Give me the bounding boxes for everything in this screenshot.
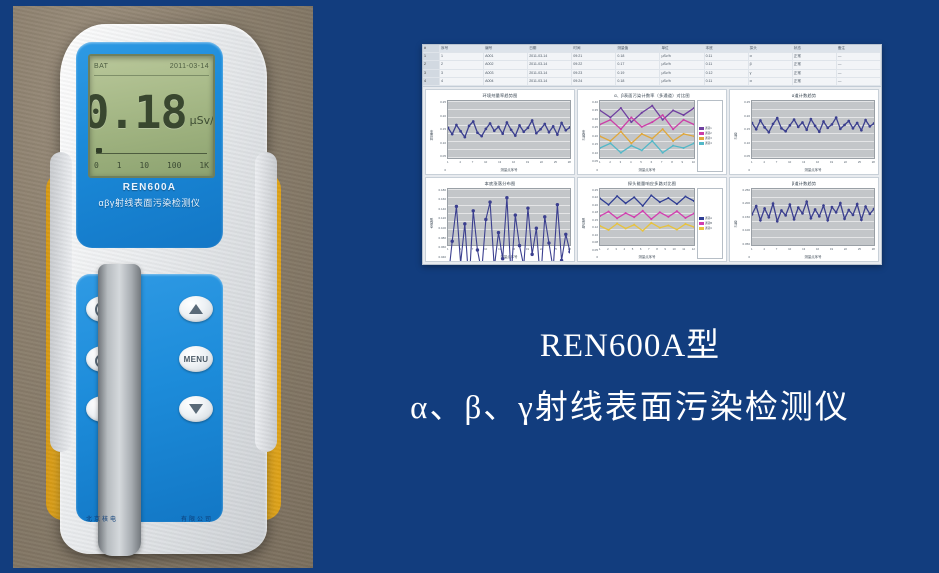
table-row-index: 1 (423, 53, 440, 60)
chart-marker (609, 140, 611, 142)
chart-marker (620, 152, 622, 154)
chart-marker (472, 209, 475, 212)
chart-marker (822, 120, 825, 123)
table-header-cell: 探头 (749, 45, 793, 52)
down-button[interactable] (179, 396, 213, 422)
chart-marker (868, 212, 871, 215)
software-screenshot-panel: #序号编号日期时间测量值单位本底探头状态备注11A0012011-03-1409… (422, 44, 882, 265)
chart-y-tick: 0.15 (587, 142, 598, 146)
chart-marker (642, 209, 644, 211)
chart-marker (814, 125, 817, 128)
chart-marker (530, 252, 533, 255)
chart-marker (856, 122, 859, 125)
table-cell: 2011-03-14 (528, 78, 572, 85)
chart-legend-label: 通道A (705, 216, 712, 220)
chart-y-axis-label: 计数 (732, 188, 739, 260)
chart-series-svg (448, 189, 570, 263)
chart-panel: β道计数趋势计数0.2500.2000.1500.1000.0500147101… (729, 177, 879, 263)
chart-marker (650, 221, 652, 223)
chart-line (600, 106, 694, 122)
chart-legend-swatch (699, 142, 704, 145)
chart-panel: 探头能量响应多路对比图响应值0.250.220.200.180.150.120.… (577, 177, 727, 263)
chart-plot-area (599, 100, 695, 159)
chart-marker (763, 126, 766, 129)
chart-marker (672, 140, 674, 142)
chart-marker (547, 241, 550, 244)
chart-y-tick: 0.080 (435, 236, 446, 240)
chart-marker (860, 129, 863, 132)
chart-marker (856, 202, 859, 205)
lcd-divider (94, 75, 209, 76)
table-header-cell: 单位 (660, 45, 704, 52)
chart-marker (633, 223, 635, 225)
chart-title: α、β表面污染计数率（多通道）对比图 (578, 90, 726, 100)
chart-marker (651, 105, 653, 107)
chart-y-axis-label: 剂量率 (428, 100, 435, 172)
slide-root: BAT 2011-03-14 0.18 μSv/h 0 1 10 (0, 0, 939, 573)
chart-marker (642, 229, 644, 231)
chart-marker (672, 145, 674, 147)
table-header-cell: 测量值 (616, 45, 660, 52)
chart-panel: α、β表面污染计数率（多通道）对比图计数率0.400.350.300.250.2… (577, 89, 727, 175)
chart-body: 计数率0.400.350.300.250.200.150.100.0501234… (578, 100, 726, 174)
lcd-tick: 1K (199, 161, 209, 170)
chart-marker (759, 119, 762, 122)
chart-marker (789, 203, 792, 206)
table-cell: μSv/h (660, 78, 704, 85)
table-cell: 0.19 (616, 70, 660, 77)
up-button[interactable] (179, 296, 213, 322)
triangle-down-icon (189, 404, 203, 414)
table-cell: 4 (440, 78, 484, 85)
chart-y-tick: 0.25 (739, 100, 750, 104)
data-table: #序号编号日期时间测量值单位本底探头状态备注11A0012011-03-1409… (423, 45, 881, 87)
chart-marker (459, 130, 462, 133)
chart-y-ticks: 0.1800.1600.1400.1200.1000.0800.0600.040 (435, 188, 447, 260)
table-cell: 0.17 (616, 61, 660, 68)
chart-marker (564, 232, 567, 235)
chart-marker (506, 121, 509, 124)
chart-panel: 环境剂量率趋势图剂量率0.250.200.150.100.05014710131… (425, 89, 575, 175)
chart-y-ticks: 0.250.220.200.180.150.120.100.080.050 (587, 188, 599, 260)
chart-body: 剂量率0.250.200.150.100.0501471013161922252… (426, 100, 574, 174)
chart-marker (556, 133, 559, 136)
chart-y-tick: 0.20 (587, 203, 598, 207)
table-cell: — (837, 78, 881, 85)
chart-marker (642, 204, 644, 206)
chart-line (752, 201, 874, 221)
chart-marker (805, 128, 808, 131)
table-cell: A004 (484, 78, 528, 85)
chart-marker (497, 230, 500, 233)
chart-body: 本底值0.1800.1600.1400.1200.1000.0800.0600.… (426, 188, 574, 262)
table-row: 11A0012011-03-1409:210.18μSv/h0.11α正常— (423, 53, 881, 61)
chart-marker (616, 195, 618, 197)
table-cell: μSv/h (660, 53, 704, 60)
chart-series-svg (448, 101, 570, 175)
chart-y-tick: 0.20 (587, 134, 598, 138)
chart-marker (476, 131, 479, 134)
chart-marker (839, 127, 842, 130)
chart-marker (556, 202, 559, 205)
chart-y-tick: 0 (587, 168, 598, 172)
chart-marker (620, 128, 622, 130)
chart-marker (527, 126, 530, 129)
radiation-detector-device: BAT 2011-03-14 0.18 μSv/h 0 1 10 (46, 24, 281, 554)
chart-marker (667, 224, 669, 226)
caption-description-line: α、β、γ射线表面污染检测仪 (330, 380, 930, 428)
chart-marker (625, 227, 627, 229)
chart-legend-label: 通道4 (705, 141, 712, 145)
chart-line (448, 197, 570, 262)
table-cell: — (837, 70, 881, 77)
lcd-unit: μSv/h (190, 114, 215, 127)
chart-marker (522, 130, 525, 133)
chart-marker (485, 127, 488, 130)
chart-marker (672, 109, 674, 111)
chart-marker (651, 138, 653, 140)
lcd-tick: 1 (117, 161, 122, 170)
chart-marker (684, 216, 686, 218)
table-cell: α (749, 53, 793, 60)
chart-y-tick: 0.15 (435, 127, 446, 131)
chart-marker (672, 128, 674, 130)
chart-title: 本底涨落分布图 (426, 178, 574, 188)
chart-y-axis-label: 本底值 (428, 188, 435, 260)
chart-series-svg (752, 189, 874, 263)
chart-y-tick: 0.18 (587, 210, 598, 214)
chart-marker (847, 120, 850, 123)
chart-marker (459, 261, 462, 262)
table-cell: 0.11 (705, 61, 749, 68)
chart-marker (772, 123, 775, 126)
chart-y-tick: 0 (587, 255, 598, 259)
chart-plot-wrapper: 14710131619222528测量点序号 (751, 100, 875, 172)
lcd-date: 2011-03-14 (170, 63, 209, 70)
chart-legend-item: 通道2 (699, 131, 721, 135)
chart-marker (860, 218, 863, 221)
chart-marker (659, 211, 661, 213)
chart-marker (852, 213, 855, 216)
table-cell: 09:24 (572, 78, 616, 85)
chart-marker (616, 217, 618, 219)
chart-y-ticks: 0.250.200.150.100.050 (435, 100, 447, 172)
chart-y-tick: 0.120 (435, 216, 446, 220)
chart-marker (651, 140, 653, 142)
chart-marker (759, 218, 762, 221)
chart-y-tick: 0.20 (739, 114, 750, 118)
chart-marker (650, 218, 652, 220)
chart-line (600, 141, 694, 153)
table-cell: 2011-03-14 (528, 53, 572, 60)
chart-marker (497, 126, 500, 129)
chart-marker (620, 131, 622, 133)
table-cell: A003 (484, 70, 528, 77)
menu-button[interactable]: MENU (179, 346, 213, 372)
chart-y-tick: 0.15 (587, 218, 598, 222)
chart-marker (767, 131, 770, 134)
chart-y-tick: 0.05 (587, 248, 598, 252)
chart-marker (548, 131, 551, 134)
chart-y-tick: 0.10 (435, 141, 446, 145)
chart-legend-label: 通道3 (705, 136, 712, 140)
chart-legend-swatch (699, 222, 704, 225)
chart-title: β道计数趋势 (730, 178, 878, 188)
chart-marker (543, 215, 546, 218)
chart-y-tick: 0.040 (435, 255, 446, 259)
chart-marker (772, 202, 775, 205)
chart-marker (818, 130, 821, 133)
table-cell: μSv/h (660, 70, 704, 77)
chart-line (600, 195, 694, 206)
device-model-block: REN600A αβγ射线表面污染检测仪 (76, 182, 223, 209)
chart-marker (683, 133, 685, 135)
chart-marker (755, 128, 758, 131)
table-cell: 09:23 (572, 70, 616, 77)
chart-marker (625, 212, 627, 214)
chart-marker (609, 142, 611, 144)
chart-legend-item: 通道C (699, 226, 721, 230)
chart-y-tick: 0.100 (739, 228, 750, 232)
chart-y-tick: 0.050 (739, 242, 750, 246)
chart-plot-wrapper: 14710131619222528测量点序号 (751, 188, 875, 260)
chart-marker (843, 217, 846, 220)
chart-marker (797, 126, 800, 129)
chart-y-tick: 0.25 (435, 100, 446, 104)
chart-marker (526, 206, 529, 209)
chart-marker (864, 119, 867, 122)
chart-marker (835, 116, 838, 119)
chart-marker (651, 121, 653, 123)
chart-plot-area (447, 188, 571, 247)
table-cell: 2011-03-14 (528, 61, 572, 68)
chart-marker (805, 200, 808, 203)
table-cell: 0.11 (705, 78, 749, 85)
chart-marker (630, 116, 632, 118)
table-cell: 2011-03-14 (528, 70, 572, 77)
chart-legend-item: 通道3 (699, 136, 721, 140)
chart-marker (620, 107, 622, 109)
chart-legend-label: 通道C (705, 226, 712, 230)
chart-line (600, 222, 694, 230)
chart-marker (650, 194, 652, 196)
chart-marker (476, 248, 479, 251)
chart-marker (822, 204, 825, 207)
table-row-index: # (423, 45, 440, 52)
chart-line (600, 115, 694, 129)
table-row: 22A0022011-03-1409:220.17μSv/h0.11β正常— (423, 61, 881, 69)
chart-plot-area (751, 100, 875, 159)
chart-marker (564, 129, 567, 132)
chart-legend-swatch (699, 227, 704, 230)
chart-y-tick: 0.05 (587, 159, 598, 163)
chart-legend-item: 通道1 (699, 126, 721, 130)
device-front-panel-top: BAT 2011-03-14 0.18 μSv/h 0 1 10 (76, 42, 223, 248)
chart-y-tick: 0.100 (435, 226, 446, 230)
chart-y-tick: 0 (435, 168, 446, 172)
chart-legend-label: 通道1 (705, 126, 712, 130)
chart-marker (609, 119, 611, 121)
chart-marker (659, 226, 661, 228)
chart-legend-swatch (699, 132, 704, 135)
chart-marker (489, 122, 492, 125)
chart-marker (826, 218, 829, 221)
chart-marker (780, 209, 783, 212)
chart-legend-label: 通道B (705, 221, 712, 225)
chart-marker (793, 118, 796, 121)
chart-y-ticks: 0.400.350.300.250.200.150.100.050 (587, 100, 599, 172)
lcd-value: 0.18 (88, 90, 187, 135)
chart-panel: 本底涨落分布图本底值0.1800.1600.1400.1200.1000.080… (425, 177, 575, 263)
table-row-index: 3 (423, 70, 440, 77)
table-cell: 1 (440, 53, 484, 60)
table-cell: 09:21 (572, 53, 616, 60)
chart-y-tick: 0.15 (739, 127, 750, 131)
table-header-row: #序号编号日期时间测量值单位本底探头状态备注 (423, 45, 881, 53)
chart-body: 计数0.250.200.150.100.05014710131619222528… (730, 100, 878, 174)
lcd-scale-bar (96, 148, 207, 154)
chart-grid: 环境剂量率趋势图剂量率0.250.200.150.100.05014710131… (423, 87, 881, 264)
chart-y-tick: 0.200 (739, 201, 750, 205)
chart-marker (543, 123, 546, 126)
table-cell: 2 (440, 61, 484, 68)
chart-marker (641, 133, 643, 135)
chart-marker (831, 205, 834, 208)
chart-marker (676, 210, 678, 212)
chart-line (600, 129, 694, 143)
chart-series-svg (752, 101, 874, 175)
table-cell: 09:22 (572, 61, 616, 68)
table-header-cell: 日期 (528, 45, 572, 52)
chart-marker (608, 228, 610, 230)
chart-marker (488, 200, 491, 203)
chart-marker (793, 217, 796, 220)
chart-y-tick: 0.08 (587, 240, 598, 244)
chart-marker (608, 210, 610, 212)
chart-plot-wrapper: 14710131619222528测量点序号 (447, 100, 571, 172)
chart-marker (514, 213, 517, 216)
chart-marker (683, 119, 685, 121)
chart-marker (463, 136, 466, 139)
chart-marker (641, 149, 643, 151)
chart-marker (683, 114, 685, 116)
chart-marker (810, 118, 813, 121)
chart-y-tick: 0.25 (587, 188, 598, 192)
chart-marker (480, 135, 483, 138)
chart-marker (801, 121, 804, 124)
chart-line (752, 118, 874, 133)
chart-y-tick: 0.160 (435, 197, 446, 201)
chart-marker (472, 120, 475, 123)
chart-marker (455, 204, 458, 207)
chart-y-tick: 0.20 (435, 114, 446, 118)
table-cell: 0.18 (616, 53, 660, 60)
lcd-tick: 0 (94, 161, 99, 170)
chart-y-tick: 0.10 (587, 151, 598, 155)
table-cell: β (749, 61, 793, 68)
chart-marker (835, 211, 838, 214)
chart-y-tick: 0.12 (587, 225, 598, 229)
chart-line (600, 210, 694, 218)
chart-legend: 通道1通道2通道3通道4 (697, 100, 723, 172)
chart-body: 计数0.2500.2000.1500.1000.0500147101316192… (730, 188, 878, 262)
chart-body: 响应值0.250.220.200.180.150.120.100.080.050… (578, 188, 726, 262)
chart-marker (518, 124, 521, 127)
chart-marker (776, 117, 779, 120)
chart-marker (630, 142, 632, 144)
chart-marker (814, 208, 817, 211)
chart-marker (608, 203, 610, 205)
lcd-status-bar: BAT 2011-03-14 (94, 59, 209, 73)
table-cell: γ (749, 70, 793, 77)
chart-marker (484, 217, 487, 220)
table-row-index: 4 (423, 78, 440, 85)
chart-legend-label: 通道2 (705, 131, 712, 135)
chart-marker (684, 195, 686, 197)
chart-marker (609, 116, 611, 118)
chart-title: α道计数趋势 (730, 90, 878, 100)
chart-title: 环境剂量率趋势图 (426, 90, 574, 100)
chart-marker (641, 112, 643, 114)
product-photo: BAT 2011-03-14 0.18 μSv/h 0 1 10 (13, 6, 313, 568)
chart-y-tick: 0.35 (587, 108, 598, 112)
chart-marker (510, 128, 513, 131)
chart-marker (667, 215, 669, 217)
chart-plot-wrapper: 12345678910测量点序号 (599, 100, 695, 172)
table-cell: A002 (484, 61, 528, 68)
chart-y-tick: 0.40 (587, 100, 598, 104)
chart-legend: 通道A通道B通道C (697, 188, 723, 260)
chart-marker (535, 226, 538, 229)
chart-marker (455, 124, 458, 127)
chart-marker (616, 222, 618, 224)
table-header-cell: 编号 (484, 45, 528, 52)
chart-marker (789, 124, 792, 127)
chart-marker (505, 196, 508, 199)
chart-marker (810, 216, 813, 219)
lcd-display: BAT 2011-03-14 0.18 μSv/h 0 1 10 (88, 54, 215, 178)
chart-marker (501, 132, 504, 135)
table-cell: — (837, 61, 881, 68)
chart-marker (501, 257, 504, 260)
table-cell: α (749, 78, 793, 85)
table-cell: 0.18 (616, 78, 660, 85)
chart-marker (667, 196, 669, 198)
table-header-cell: 备注 (837, 45, 881, 52)
device-model-name: REN600A (76, 182, 223, 193)
table-header-cell: 状态 (793, 45, 837, 52)
brand-left-text: 北京核电 (86, 514, 118, 523)
chart-y-axis-label: 计数率 (580, 100, 587, 172)
table-cell: 正常 (793, 53, 837, 60)
chart-marker (659, 201, 661, 203)
device-model-description: αβγ射线表面污染检测仪 (76, 196, 223, 209)
table-cell: A001 (484, 53, 528, 60)
chart-legend-item: 通道4 (699, 141, 721, 145)
chart-title: 探头能量响应多路对比图 (578, 178, 726, 188)
chart-marker (826, 126, 829, 129)
chart-marker (630, 121, 632, 123)
chart-marker (451, 133, 454, 136)
triangle-up-icon (189, 304, 203, 314)
chart-panel: α道计数趋势计数0.250.200.150.100.05014710131619… (729, 89, 879, 175)
chart-y-tick: 0.05 (435, 154, 446, 158)
chart-y-axis-label: 计数 (732, 100, 739, 172)
lcd-tick: 100 (167, 161, 181, 170)
chart-marker (633, 196, 635, 198)
chart-y-axis-label: 响应值 (580, 188, 587, 260)
chart-y-tick: 0.22 (587, 195, 598, 199)
